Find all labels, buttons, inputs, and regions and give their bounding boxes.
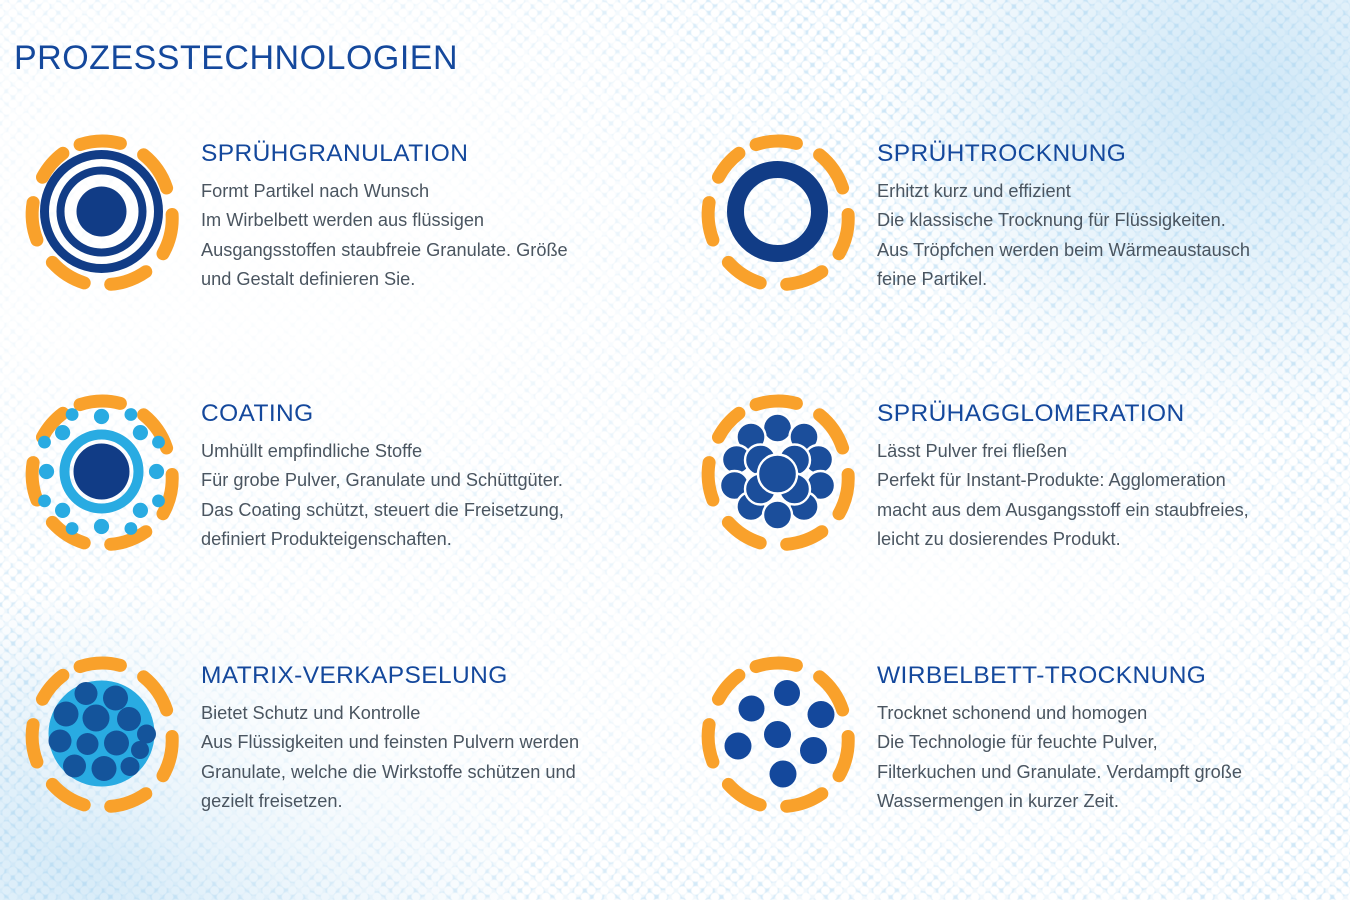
concentric-rings-icon (14, 124, 189, 299)
card-text-block: SPRÜHAGGLOMERATION Lässt Pulver frei fli… (877, 380, 1249, 555)
card-title: MATRIX-VERKAPSELUNG (201, 664, 579, 689)
hollow-ring-icon (690, 124, 865, 299)
technology-card: COATING Umhüllt empfindliche Stoffe Für … (14, 380, 674, 580)
card-text-block: SPRÜHTROCKNUNG Erhitzt kurz und effizien… (877, 120, 1250, 295)
infographic-page: PROZESSTECHNOLOGIEN (0, 0, 1350, 900)
card-line: Aus Flüssigkeiten und feinsten Pulvern w… (201, 728, 579, 758)
card-line: Umhüllt empfindliche Stoffe (201, 437, 564, 467)
matrix-capsule-icon (14, 646, 189, 821)
card-line: Die klassische Trocknung für Flüssigkeit… (877, 206, 1250, 236)
card-line: definiert Produkteigenschaften. (201, 525, 564, 555)
card-title: COATING (201, 402, 564, 427)
card-title: WIRBELBETT-TROCKNUNG (877, 664, 1242, 689)
technology-card: SPRÜHGRANULATION Formt Partikel nach Wun… (14, 120, 674, 320)
card-title: SPRÜHTROCKNUNG (877, 142, 1250, 167)
card-text-block: COATING Umhüllt empfindliche Stoffe Für … (201, 380, 564, 555)
card-line: Lässt Pulver frei fließen (877, 437, 1249, 467)
card-description: Formt Partikel nach Wunsch Im Wirbelbett… (201, 177, 568, 295)
card-line: Filterkuchen und Granulate. Verdampft gr… (877, 758, 1242, 788)
card-line: gezielt freisetzen. (201, 787, 579, 817)
technology-card-grid: SPRÜHGRANULATION Formt Partikel nach Wun… (0, 110, 1350, 900)
technology-card: WIRBELBETT-TROCKNUNG Trocknet schonend u… (690, 642, 1350, 842)
card-line: macht aus dem Ausgangsstoff ein staubfre… (877, 496, 1249, 526)
card-title: SPRÜHGRANULATION (201, 142, 568, 167)
card-text-block: WIRBELBETT-TROCKNUNG Trocknet schonend u… (877, 642, 1242, 817)
card-title: SPRÜHAGGLOMERATION (877, 402, 1249, 427)
technology-card: MATRIX-VERKAPSELUNG Bietet Schutz und Ko… (14, 642, 674, 842)
card-line: Perfekt für Instant-Produkte: Agglomerat… (877, 466, 1249, 496)
technology-card: SPRÜHTROCKNUNG Erhitzt kurz und effizien… (690, 120, 1350, 320)
card-description: Umhüllt empfindliche Stoffe Für grobe Pu… (201, 437, 564, 555)
card-line: Formt Partikel nach Wunsch (201, 177, 568, 207)
card-line: Granulate, welche die Wirkstoffe schütze… (201, 758, 579, 788)
card-line: feine Partikel. (877, 265, 1250, 295)
card-line: Wassermengen in kurzer Zeit. (877, 787, 1242, 817)
particle-cluster-icon (690, 384, 865, 559)
card-line: Erhitzt kurz und effizient (877, 177, 1250, 207)
card-line: Bietet Schutz und Kontrolle (201, 699, 579, 729)
card-line: leicht zu dosierendes Produkt. (877, 525, 1249, 555)
card-description: Bietet Schutz und Kontrolle Aus Flüssigk… (201, 699, 579, 817)
card-line: Die Technologie für feuchte Pulver, (877, 728, 1242, 758)
technology-card: SPRÜHAGGLOMERATION Lässt Pulver frei fli… (690, 380, 1350, 580)
scattered-particles-icon (690, 646, 865, 821)
card-line: Für grobe Pulver, Granulate und Schüttgü… (201, 466, 564, 496)
card-description: Erhitzt kurz und effizient Die klassisch… (877, 177, 1250, 295)
card-text-block: SPRÜHGRANULATION Formt Partikel nach Wun… (201, 120, 568, 295)
card-text-block: MATRIX-VERKAPSELUNG Bietet Schutz und Ko… (201, 642, 579, 817)
coated-core-icon (14, 384, 189, 559)
card-line: Ausgangsstoffen staubfreie Granulate. Gr… (201, 236, 568, 266)
card-line: Das Coating schützt, steuert die Freiset… (201, 496, 564, 526)
page-title: PROZESSTECHNOLOGIEN (14, 39, 458, 78)
card-line: Im Wirbelbett werden aus flüssigen (201, 206, 568, 236)
card-description: Trocknet schonend und homogen Die Techno… (877, 699, 1242, 817)
card-line: Trocknet schonend und homogen (877, 699, 1242, 729)
card-line: und Gestalt definieren Sie. (201, 265, 568, 295)
card-line: Aus Tröpfchen werden beim Wärmeaustausch (877, 236, 1250, 266)
card-description: Lässt Pulver frei fließen Perfekt für In… (877, 437, 1249, 555)
